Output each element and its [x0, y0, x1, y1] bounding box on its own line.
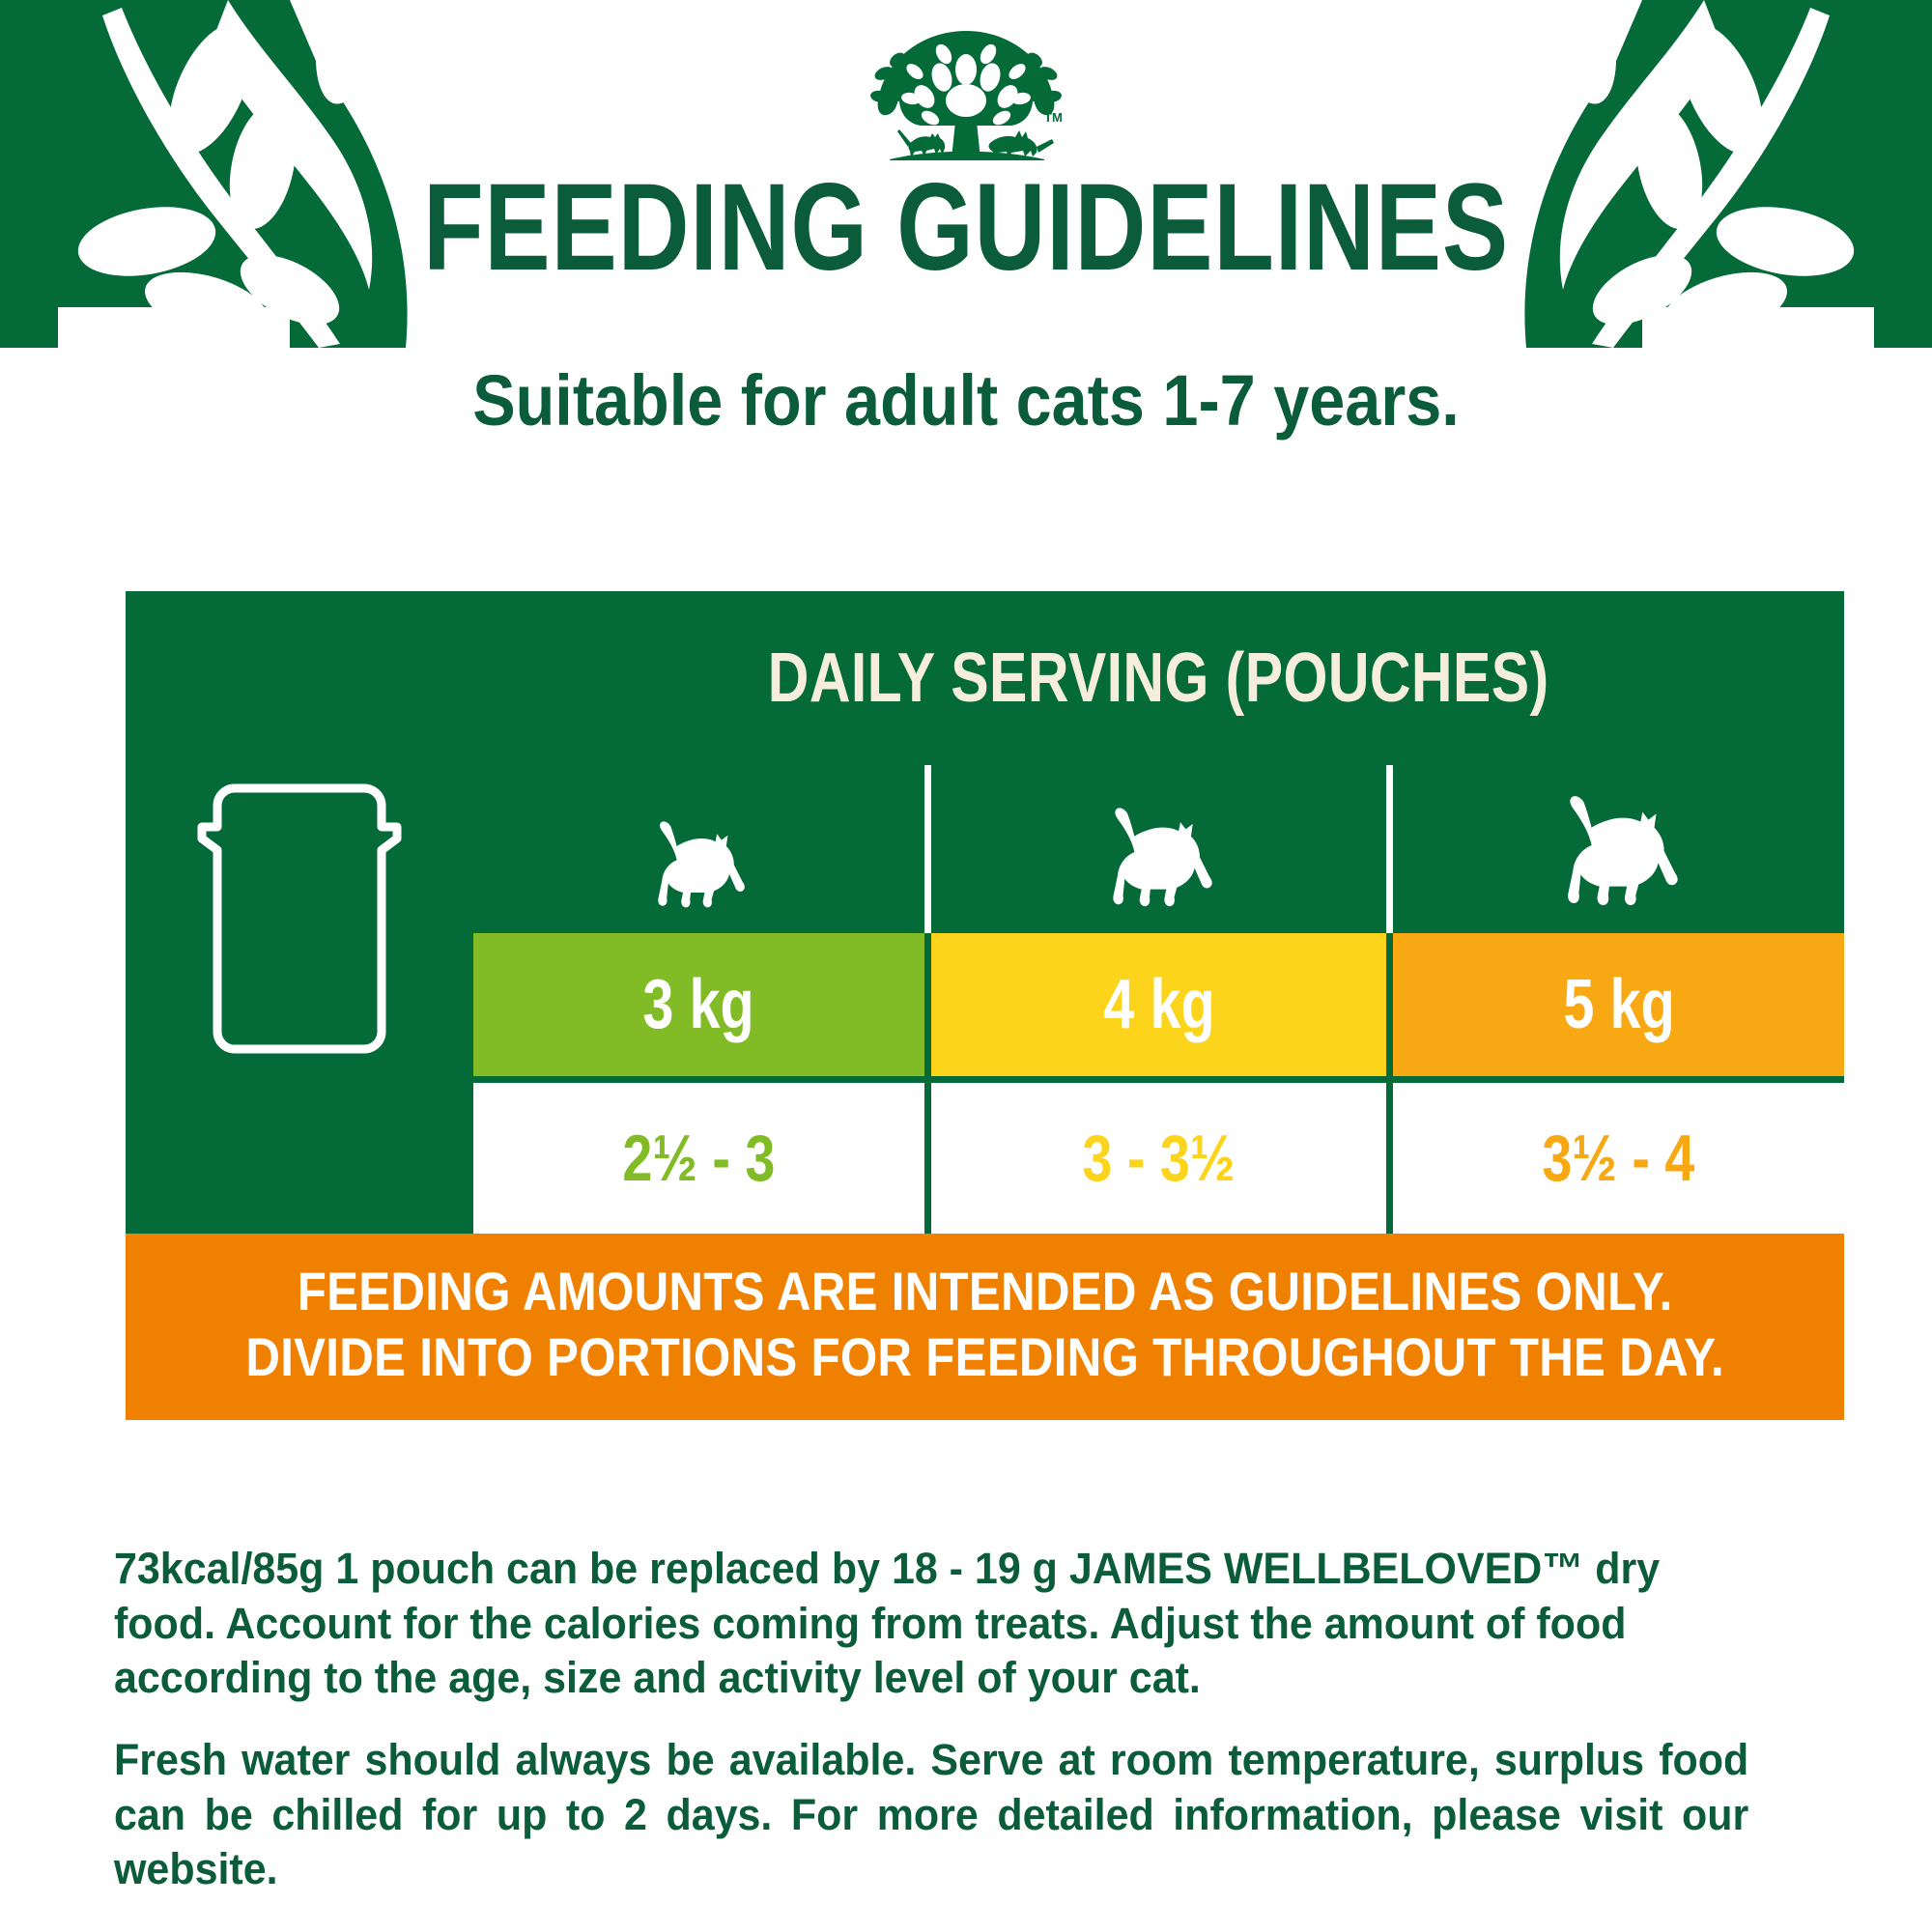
footnote-paragraph-2: Fresh water should always be available. … [114, 1733, 1748, 1897]
cat-icon-cell-5kg [1390, 765, 1844, 929]
footnote-paragraph-1: 73kcal/85g 1 pouch can be replaced by 18… [114, 1542, 1748, 1706]
footnotes-section: 73kcal/85g 1 pouch can be replaced by 18… [114, 1542, 1826, 1924]
cat-silhouette-small-icon [637, 808, 760, 916]
daily-serving-header: DAILY SERVING (POUCHES) [473, 591, 1844, 765]
serving-cell-4kg: 3 - 3½ [927, 1079, 1390, 1234]
daily-serving-header-label: DAILY SERVING (POUCHES) [768, 639, 1549, 718]
cat-icon-cell-3kg [473, 765, 927, 929]
table-row-notice: FEEDING AMOUNTS ARE INTENDED AS GUIDELIN… [126, 1234, 1844, 1420]
table-row-header: DAILY SERVING (POUCHES) [126, 591, 1844, 765]
james-wellbeloved-tree-logo: TM [855, 25, 1077, 160]
cat-silhouette-large-icon [1538, 779, 1700, 916]
cat-silhouette-medium-icon [1087, 792, 1232, 916]
weight-label-4kg: 4 kg [1103, 965, 1214, 1044]
feeding-guidelines-table: DAILY SERVING (POUCHES) [126, 591, 1844, 1420]
cat-icon-cell-4kg [927, 765, 1390, 929]
pouch-icon-cell [126, 591, 473, 1234]
notice-banner: FEEDING AMOUNTS ARE INTENDED AS GUIDELIN… [126, 1234, 1844, 1420]
serving-label-4kg: 3 - 3½ [1083, 1121, 1236, 1196]
weight-label-3kg: 3 kg [643, 965, 754, 1044]
notice-line-2: DIVIDE INTO PORTIONS FOR FEEDING THROUGH… [245, 1324, 1724, 1390]
weight-label-5kg: 5 kg [1563, 965, 1674, 1044]
serving-cell-5kg: 3½ - 4 [1390, 1079, 1844, 1234]
notice-line-1: FEEDING AMOUNTS ARE INTENDED AS GUIDELIN… [245, 1259, 1724, 1324]
weight-cell-4kg: 4 kg [927, 929, 1390, 1079]
weight-cell-3kg: 3 kg [473, 929, 927, 1079]
food-pouch-icon [179, 755, 420, 1065]
feeding-guidelines-page: TM FEEDING GUIDELINES Suitable for adult… [0, 0, 1932, 1932]
serving-cell-3kg: 2½ - 3 [473, 1079, 927, 1234]
trademark-symbol: TM [1044, 110, 1063, 125]
page-subtitle: Suitable for adult cats 1-7 years. [97, 365, 1835, 437]
serving-label-3kg: 2½ - 3 [622, 1121, 775, 1196]
serving-label-5kg: 3½ - 4 [1543, 1121, 1695, 1196]
weight-cell-5kg: 5 kg [1390, 929, 1844, 1079]
page-title: FEEDING GUIDELINES [193, 166, 1739, 290]
